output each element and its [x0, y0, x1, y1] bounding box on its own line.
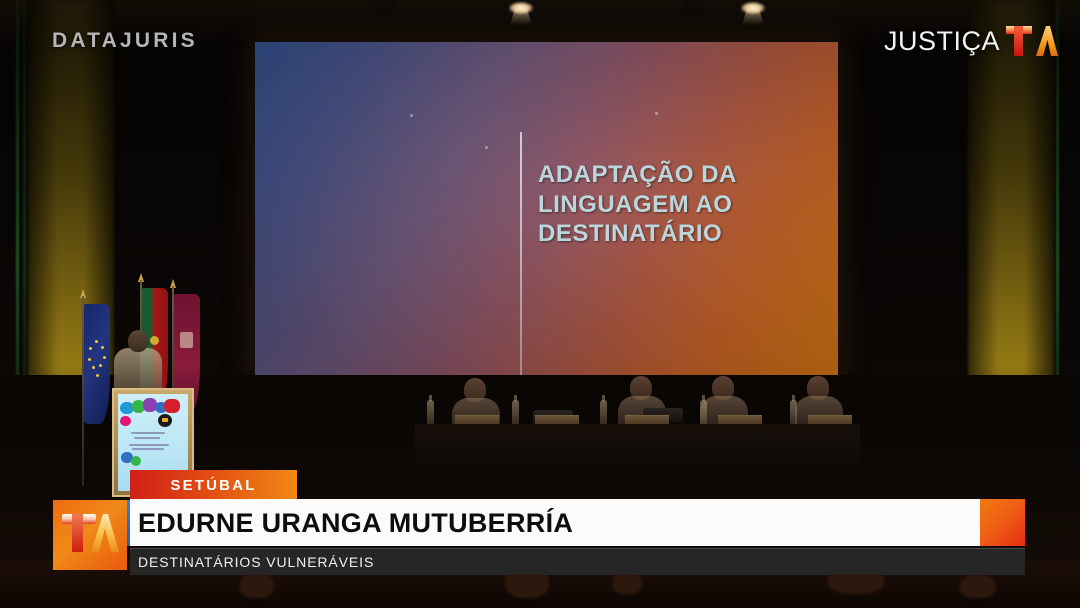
- panel-table: [415, 424, 860, 480]
- water-bottle-2: [512, 400, 519, 426]
- speaker-head: [128, 330, 148, 352]
- slide-title-line-2: LINGUAGEM AO: [538, 190, 828, 220]
- datajuris-watermark: DATAJURIS: [52, 29, 198, 53]
- topic-bar: DESTINATÁRIOS VULNERÁVEIS: [130, 548, 1025, 575]
- location-tag: SETÚBAL: [130, 470, 297, 500]
- channel-logo: JUSTIÇA: [884, 24, 1058, 58]
- channel-name: JUSTIÇA: [884, 26, 1000, 57]
- broadcast-frame: ADAPTAÇÃO DA LINGUAGEM AO DESTINATÁRIO: [0, 0, 1080, 608]
- ta-logo-badge: [53, 500, 127, 570]
- slide-divider-line: [520, 132, 522, 375]
- speaker-name-label: EDURNE URANGA MUTUBERRÍA: [138, 508, 573, 539]
- ceiling-lamp-3: [680, 0, 706, 22]
- screen-speck: [655, 112, 658, 115]
- ceiling-lamp-2: [508, 0, 534, 22]
- speaker-name-bar: EDURNE URANGA MUTUBERRÍA: [130, 499, 980, 546]
- slide-title: ADAPTAÇÃO DA LINGUAGEM AO DESTINATÁRIO: [538, 160, 828, 249]
- lower-third-accent-block: [980, 499, 1025, 546]
- slide-title-line-1: ADAPTAÇÃO DA: [538, 160, 828, 190]
- water-bottle-4: [700, 400, 707, 426]
- water-bottle-5: [790, 400, 797, 426]
- water-bottle-1: [427, 400, 434, 426]
- topic-label: DESTINATÁRIOS VULNERÁVEIS: [138, 554, 374, 570]
- projection-screen: ADAPTAÇÃO DA LINGUAGEM AO DESTINATÁRIO: [255, 42, 838, 375]
- screen-speck: [485, 146, 488, 149]
- slide-title-line-3: DESTINATÁRIO: [538, 219, 828, 249]
- location-tag-label: SETÚBAL: [170, 477, 256, 494]
- eu-stars: [84, 304, 110, 424]
- water-bottle-3: [600, 400, 607, 426]
- ceiling-lamp-4: [740, 0, 766, 22]
- screen-speck: [410, 114, 413, 117]
- ceiling-lamp-1: [372, 0, 398, 22]
- ta-logo-icon: [1006, 24, 1058, 58]
